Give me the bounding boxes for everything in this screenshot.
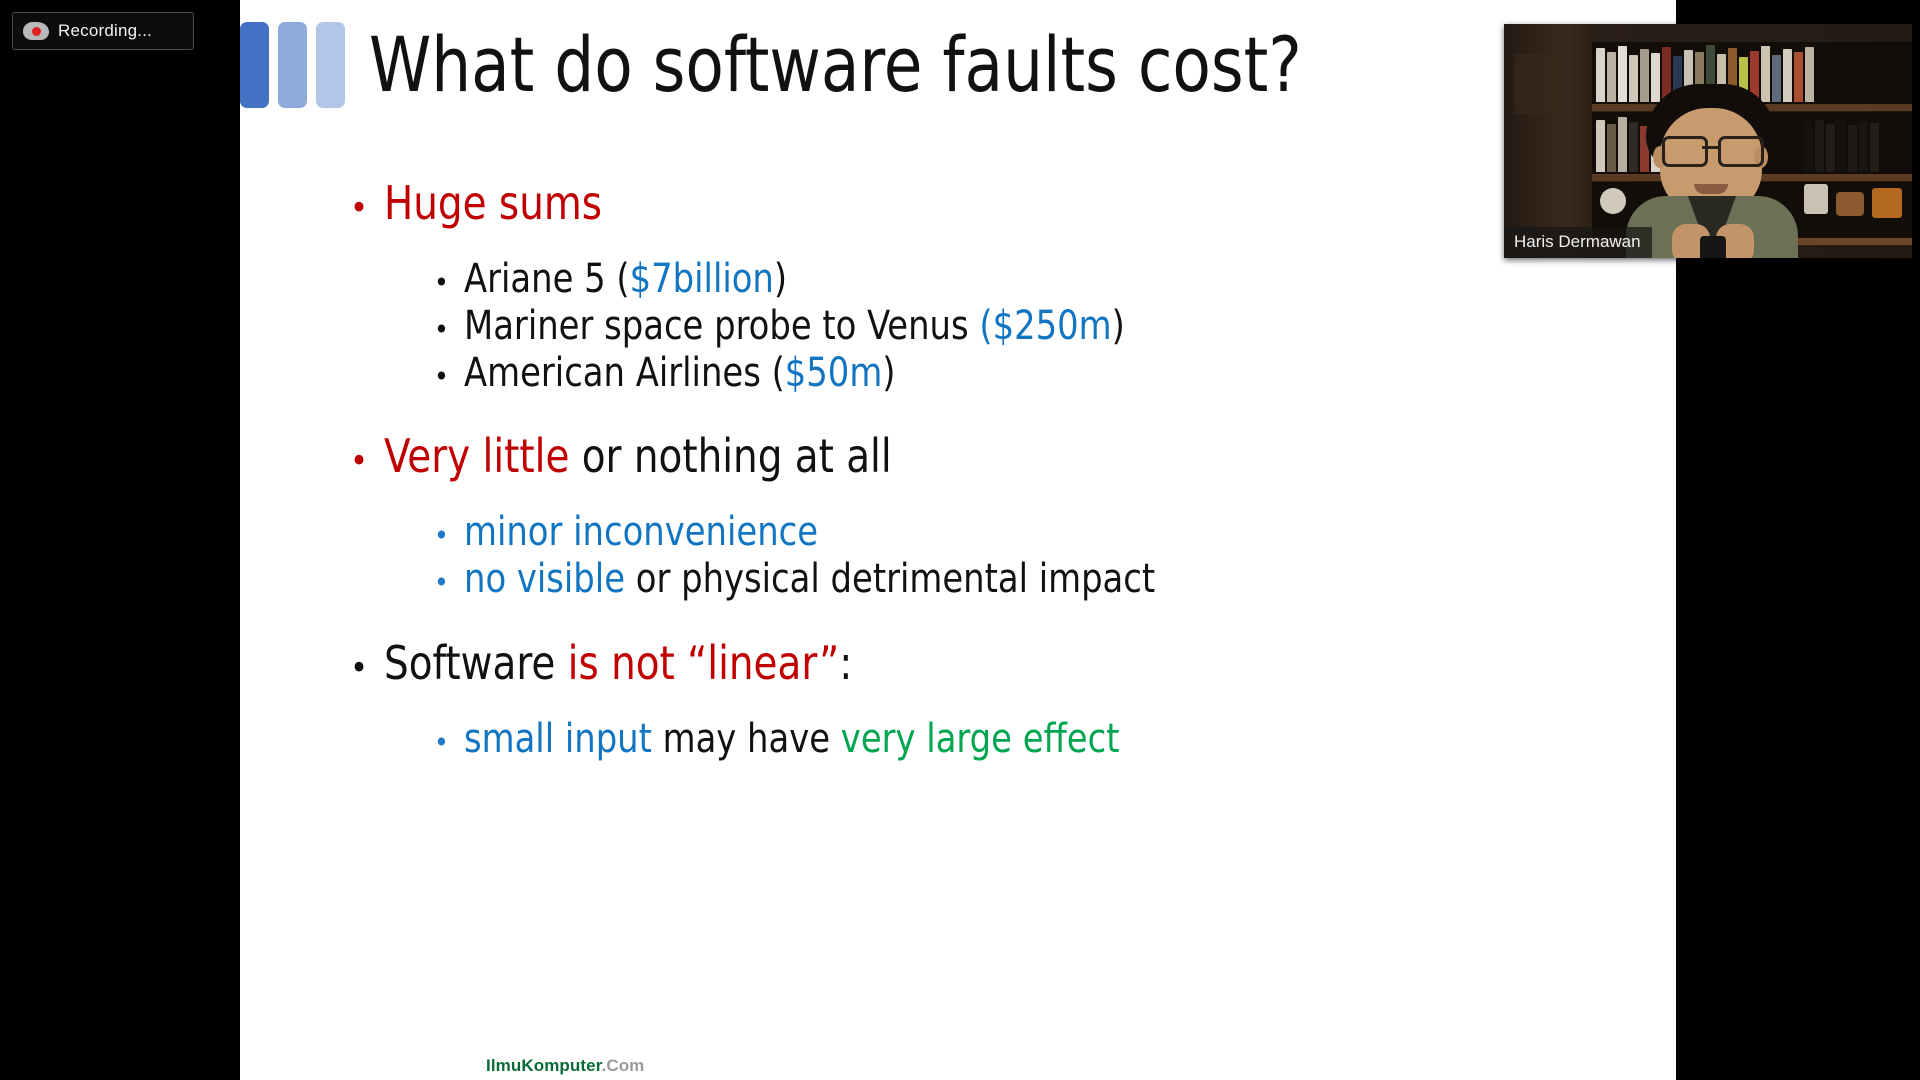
text-run: Ariane 5 ( <box>464 256 630 302</box>
text-run-highlight: Very little <box>384 429 569 483</box>
text-run: ) <box>882 350 895 396</box>
bullet-software-not-linear: • Software is not “linear”: <box>350 640 1790 687</box>
subbullet-small-input: • small input may have very large effect <box>434 719 1790 760</box>
page-title: What do software faults cost? <box>369 22 1302 108</box>
bullet-text: Software is not “linear”: <box>384 640 852 687</box>
bullet-glyph-icon: • <box>434 269 464 297</box>
text-run-highlight: $50m <box>785 350 883 396</box>
text-run: or nothing at all <box>569 429 891 483</box>
shelf-object-bag <box>1872 188 1902 218</box>
shelf-object-figurine <box>1804 184 1828 214</box>
text-run: Mariner space probe to Venus <box>464 303 979 349</box>
mouth <box>1694 184 1728 194</box>
bullet-glyph-icon: • <box>434 522 464 550</box>
text-run-highlight: $7billion <box>630 256 774 302</box>
subbullet-text: small input may have very large effect <box>464 719 1119 760</box>
subbullet-minor-inconvenience: • minor inconvenience <box>434 512 1790 553</box>
slide-title-row: What do software faults cost? <box>240 22 1383 114</box>
bullet-text: Very little or nothing at all <box>384 433 892 480</box>
bullet-glyph-icon: • <box>350 191 384 225</box>
subbullet-text: American Airlines ($50m) <box>464 353 895 394</box>
text-run: Software <box>384 636 568 690</box>
bullet-glyph-icon: • <box>434 729 464 757</box>
books-row-2b <box>1804 116 1879 172</box>
accent-bar-1 <box>240 22 269 108</box>
text-run: may have <box>652 716 841 762</box>
bullet-glyph-icon: • <box>350 651 384 685</box>
subbullet-text: no visible or physical detrimental impac… <box>464 559 1155 600</box>
spacer <box>350 399 1790 433</box>
bullet-glyph-icon: • <box>434 569 464 597</box>
text-run: ) <box>774 256 787 302</box>
text-run-highlight: is not “linear” <box>568 636 840 690</box>
subbullet-american-airlines: • American Airlines ($50m) <box>434 353 1790 394</box>
bullet-glyph-icon: • <box>434 316 464 344</box>
text-run: : <box>839 636 852 690</box>
subbullet-text: Ariane 5 ($7billion) <box>464 259 787 300</box>
text-run-highlight: ($250m <box>979 303 1111 349</box>
participant-name-label: Haris Dermawan <box>1504 227 1652 258</box>
recording-label: Recording... <box>58 21 152 41</box>
subbullet-mariner: • Mariner space probe to Venus ($250m) <box>434 306 1790 347</box>
bullet-glyph-icon: • <box>434 363 464 391</box>
held-object <box>1700 236 1726 258</box>
recording-indicator[interactable]: Recording... <box>12 12 194 50</box>
accent-bar-2 <box>278 22 307 108</box>
text-run-highlight: very large effect <box>841 716 1120 762</box>
logo-text-suffix: .Com <box>602 1056 645 1075</box>
subbullet-ariane: • Ariane 5 ($7billion) <box>434 259 1790 300</box>
ilmukomputer-logo: IlmuKomputer.Com <box>486 1056 644 1076</box>
text-run: or physical detrimental impact <box>625 556 1155 602</box>
bullet-text: Huge sums <box>384 180 602 227</box>
accent-bar-3 <box>316 22 345 108</box>
bullet-glyph-icon: • <box>350 444 384 478</box>
logo-text-main: IlmuKomputer <box>486 1056 602 1075</box>
text-run-highlight: no visible <box>464 556 625 602</box>
glasses-icon <box>1660 136 1762 162</box>
shelf-object-box <box>1836 192 1864 216</box>
door-panel <box>1514 54 1560 114</box>
slide-body: • Huge sums • Ariane 5 ($7billion) • Mar… <box>350 180 1790 766</box>
subbullet-text: Mariner space probe to Venus ($250m) <box>464 306 1125 347</box>
record-cloud-icon <box>23 21 49 41</box>
text-run: American Airlines ( <box>464 350 785 396</box>
text-run-highlight: small input <box>464 716 652 762</box>
bullet-very-little: • Very little or nothing at all <box>350 433 1790 480</box>
webcam-tile[interactable]: Haris Dermawan <box>1504 24 1912 258</box>
text-run: ) <box>1112 303 1125 349</box>
spacer <box>350 606 1790 640</box>
subbullet-no-visible: • no visible or physical detrimental imp… <box>434 559 1790 600</box>
subbullet-text: minor inconvenience <box>464 512 818 553</box>
